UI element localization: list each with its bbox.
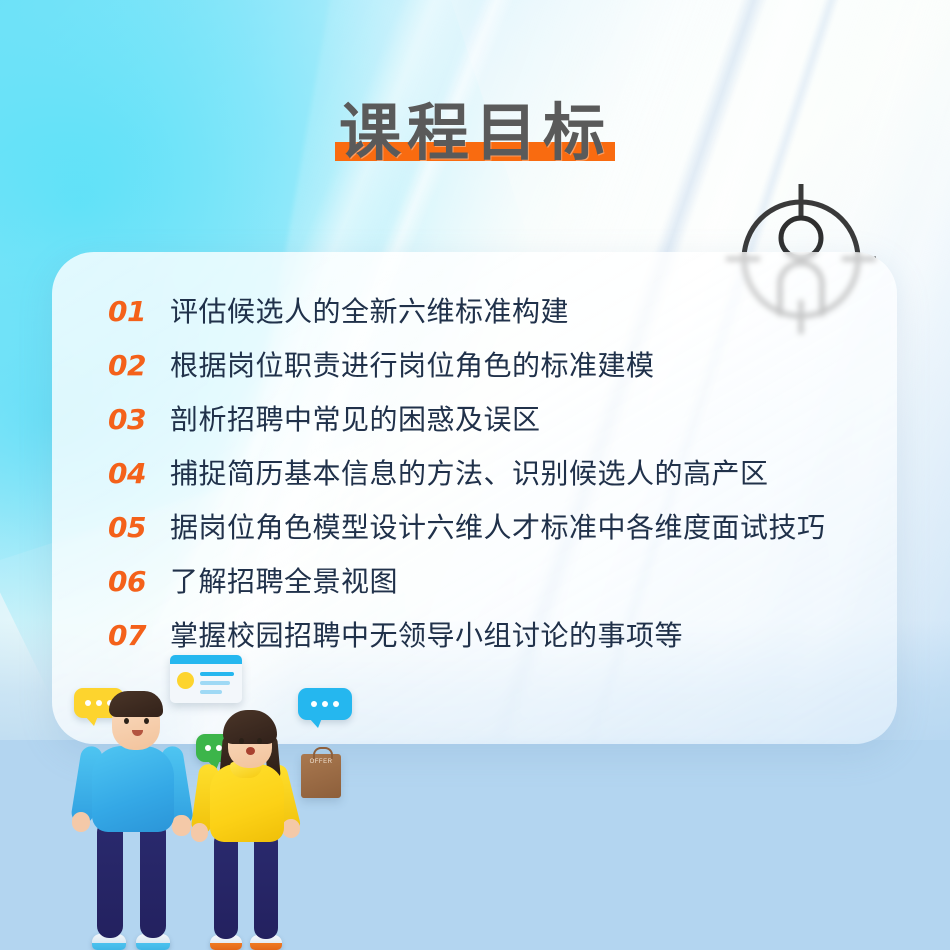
goal-number: 05 xyxy=(108,511,170,544)
list-item[interactable]: 01 评估候选人的全新六维标准构建 xyxy=(108,290,871,342)
list-item[interactable]: 05 据岗位角色模型设计六维人才标准中各维度面试技巧 xyxy=(108,506,871,558)
list-item[interactable]: 07 掌握校园招聘中无领导小组讨论的事项等 xyxy=(108,614,871,666)
goal-number: 01 xyxy=(108,295,170,328)
goal-text: 了解招聘全景视图 xyxy=(170,560,398,600)
goal-number: 07 xyxy=(108,619,170,652)
title-wrapper: 课程目标 xyxy=(327,96,623,169)
goal-text: 据岗位角色模型设计六维人才标准中各维度面试技巧 xyxy=(170,506,826,546)
list-item[interactable]: 02 根据岗位职责进行岗位角色的标准建模 xyxy=(108,344,871,396)
list-item[interactable]: 04 捕捉简历基本信息的方法、识别候选人的高产区 xyxy=(108,452,871,504)
background-bottom-band xyxy=(0,740,950,950)
goals-card: 01 评估候选人的全新六维标准构建 02 根据岗位职责进行岗位角色的标准建模 0… xyxy=(52,252,897,744)
goal-text: 剖析招聘中常见的困惑及误区 xyxy=(170,398,541,438)
page-title: 课程目标 xyxy=(339,96,611,169)
goal-text: 捕捉简历基本信息的方法、识别候选人的高产区 xyxy=(170,452,769,492)
goals-list: 01 评估候选人的全新六维标准构建 02 根据岗位职责进行岗位角色的标准建模 0… xyxy=(108,290,871,668)
list-item[interactable]: 06 了解招聘全景视图 xyxy=(108,560,871,612)
goal-text: 掌握校园招聘中无领导小组讨论的事项等 xyxy=(170,614,683,654)
poster-header: 课程目标 xyxy=(0,96,950,169)
list-item[interactable]: 03 剖析招聘中常见的困惑及误区 xyxy=(108,398,871,450)
goal-number: 04 xyxy=(108,457,170,490)
goal-number: 06 xyxy=(108,565,170,598)
goal-text: 根据岗位职责进行岗位角色的标准建模 xyxy=(170,344,655,384)
goal-number: 02 xyxy=(108,349,170,382)
goal-number: 03 xyxy=(108,403,170,436)
goal-text: 评估候选人的全新六维标准构建 xyxy=(170,290,569,330)
course-goals-poster: 课程目标 01 评估候选人的全新六维标准构建 02 根据岗位职责进行岗位角色的标… xyxy=(0,0,950,950)
